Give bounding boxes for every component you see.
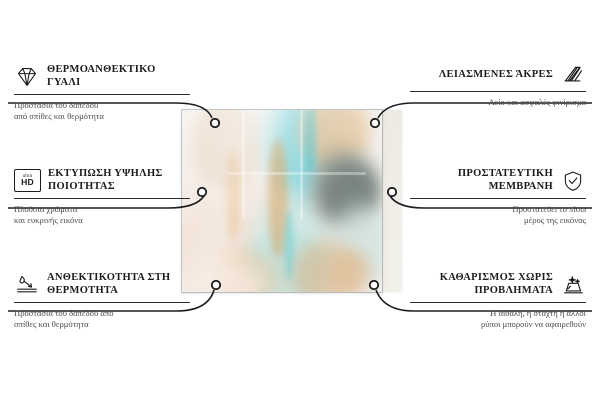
- feature-description: Η αιθάλη, η στάχτη ή άλλοι ρύποι μπορούν…: [410, 308, 586, 329]
- feature-description: Λείο και ασφαλές φινίρισμα: [410, 97, 586, 108]
- flame-heat-resistance-icon: [14, 274, 40, 296]
- feature-header: ΛΕΙΑΣΜΕΝΕΣ ΆΚΡΕΣ: [410, 64, 586, 86]
- sparkle-clean-icon: [560, 274, 586, 296]
- feature-description: Προστατεύει το πίσω μέρος της εικόνας: [410, 204, 586, 225]
- diamond-icon: [14, 66, 40, 88]
- feature-header: ΑΝΘΕΚΤΙΚΟΤΗΤΑ ΣΤΗ ΘΕΡΜΟΤΗΤΑ: [14, 272, 190, 297]
- feature-title: ΚΑΘΑΡΙΣΜΟΣ ΧΩΡΙΣ ΠΡΟΒΛΗΜΑΤΑ: [410, 272, 553, 297]
- feature-title: ΑΝΘΕΚΤΙΚΟΤΗΤΑ ΣΤΗ ΘΕΡΜΟΤΗΤΑ: [47, 272, 190, 297]
- feature-description: Πλούσια χρώματα και ευκρινής εικόνα: [14, 204, 190, 225]
- feature-title: ΕΚΤΥΠΩΣΗ ΥΨΗΛΗΣ ΠΟΙΟΤΗΤΑΣ: [48, 168, 190, 193]
- feature-header: ΘΕΡΜΟΑΝΘΕΚΤΙΚΟ ΓΥΑΛΙ: [14, 64, 190, 89]
- feature-polished-edges: ΛΕΙΑΣΜΕΝΕΣ ΆΚΡΕΣ Λείο και ασφαλές φινίρι…: [410, 64, 586, 108]
- feature-title: ΛΕΙΑΣΜΕΝΕΣ ΆΚΡΕΣ: [439, 69, 553, 82]
- shield-check-icon: [560, 170, 586, 192]
- glass-splashback-front: [182, 110, 382, 292]
- glass-glare: [182, 110, 382, 292]
- divider: [14, 302, 190, 303]
- feature-protective-membrane: ΠΡΟΣΤΑΤΕΥΤΙΚΗ ΜΕΜΒΡΑΝΗ Προστατεύει το πί…: [410, 168, 586, 225]
- divider: [410, 91, 586, 92]
- infographic-canvas: ΘΕΡΜΟΑΝΘΕΚΤΙΚΟ ΓΥΑΛΙ Προστασία του δαπέδ…: [0, 0, 600, 400]
- feature-description: Προστασία του δαπέδου από σπίθες και θερ…: [14, 100, 190, 121]
- product-image: [182, 110, 404, 294]
- feature-high-quality-print: ultra HD ΕΚΤΥΠΩΣΗ ΥΨΗΛΗΣ ΠΟΙΟΤΗΤΑΣ Πλούσ…: [14, 168, 190, 225]
- feature-header: ultra HD ΕΚΤΥΠΩΣΗ ΥΨΗΛΗΣ ΠΟΙΟΤΗΤΑΣ: [14, 168, 190, 193]
- ultra-hd-badge-icon: ultra HD: [14, 169, 41, 192]
- feature-heat-resistant-glass: ΘΕΡΜΟΑΝΘΕΚΤΙΚΟ ΓΥΑΛΙ Προστασία του δαπέδ…: [14, 64, 190, 121]
- divider: [410, 198, 586, 199]
- feature-header: ΠΡΟΣΤΑΤΕΥΤΙΚΗ ΜΕΜΒΡΑΝΗ: [410, 168, 586, 193]
- feature-description: Προστασία του δαπέδου από σπίθες και θερ…: [14, 308, 190, 329]
- divider: [14, 94, 190, 95]
- divider: [410, 302, 586, 303]
- feature-title: ΠΡΟΣΤΑΤΕΥΤΙΚΗ ΜΕΜΒΡΑΝΗ: [410, 168, 553, 193]
- feature-header: ΚΑΘΑΡΙΣΜΟΣ ΧΩΡΙΣ ΠΡΟΒΛΗΜΑΤΑ: [410, 272, 586, 297]
- polished-edges-icon: [560, 64, 586, 86]
- feature-heat-durability: ΑΝΘΕΚΤΙΚΟΤΗΤΑ ΣΤΗ ΘΕΡΜΟΤΗΤΑ Προστασία το…: [14, 272, 190, 329]
- feature-easy-cleaning: ΚΑΘΑΡΙΣΜΟΣ ΧΩΡΙΣ ΠΡΟΒΛΗΜΑΤΑ Η αιθάλη, η …: [410, 272, 586, 329]
- divider: [14, 198, 190, 199]
- feature-title: ΘΕΡΜΟΑΝΘΕΚΤΙΚΟ ΓΥΑΛΙ: [47, 64, 190, 89]
- hd-label: HD: [21, 178, 34, 187]
